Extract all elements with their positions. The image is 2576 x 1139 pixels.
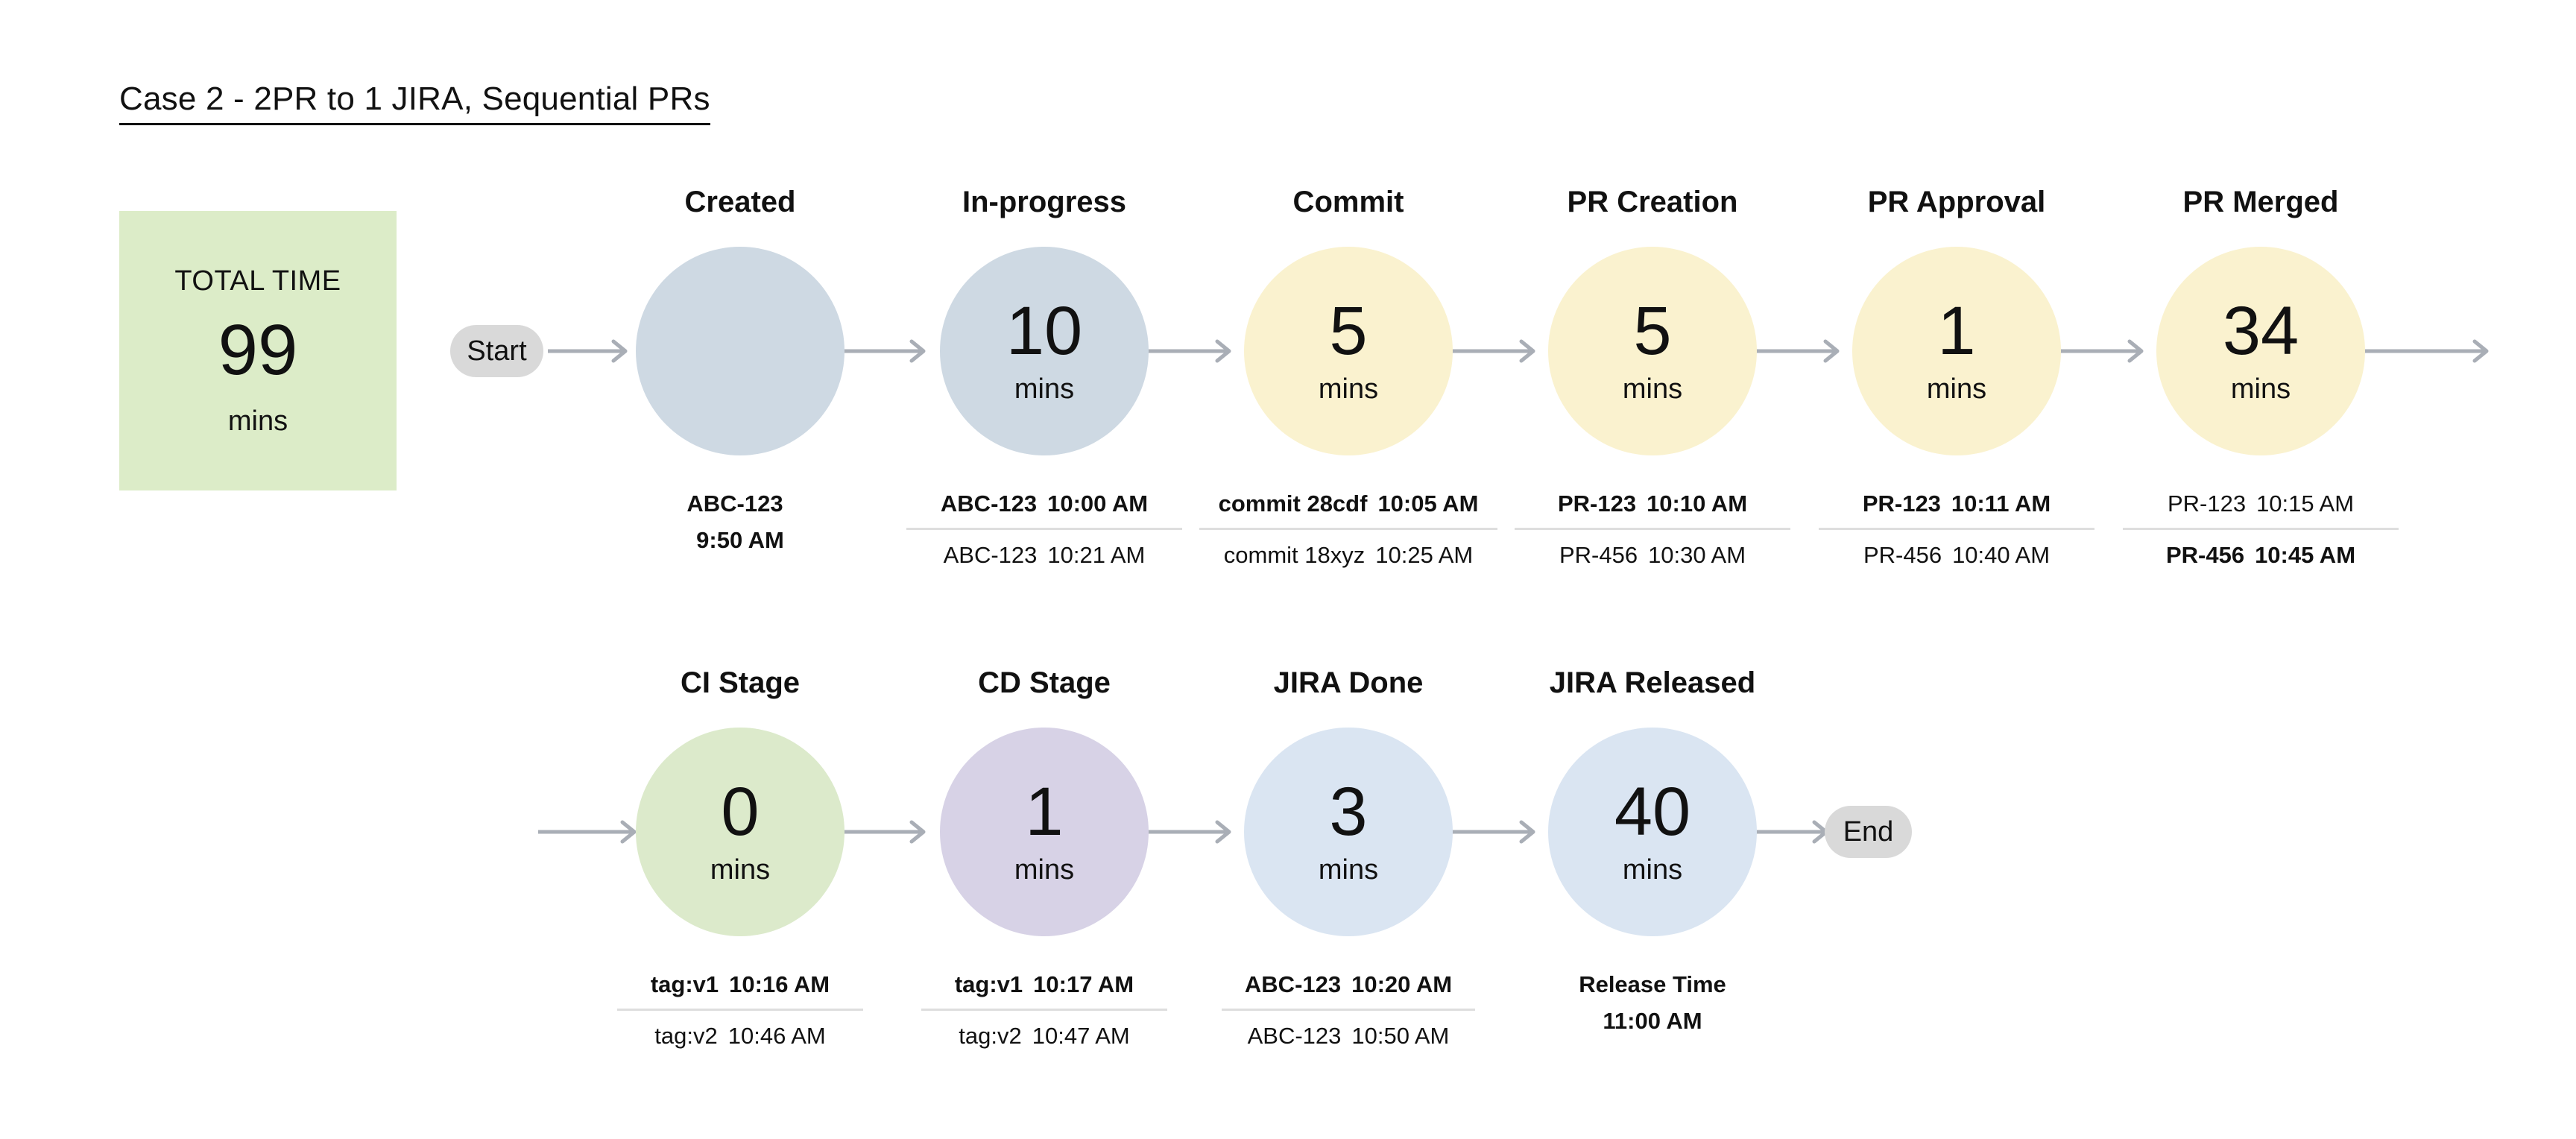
arrow-prmerged-wrap-out	[2364, 338, 2513, 365]
event-key: commit 18xyz	[1224, 542, 1365, 568]
event-key: PR-123	[1863, 490, 1941, 517]
event-key: PR-456	[1559, 542, 1638, 568]
stage-events-pr-approval: PR-12310:11 AM PR-45610:40 AM	[1819, 492, 2094, 567]
page-title: Case 2 - 2PR to 1 JIRA, Sequential PRs	[119, 81, 710, 125]
total-time-unit: mins	[228, 407, 288, 435]
event-key: Release Time	[1579, 971, 1726, 997]
stage-events-pr-merged: PR-12310:15 AM PR-45610:45 AM	[2123, 492, 2399, 567]
stage-events-in-progress: ABC-12310:00 AM ABC-12310:21 AM	[906, 492, 1182, 567]
arrow-jira-done-to-jira-released	[1452, 818, 1545, 845]
stage-unit-in-progress: mins	[1014, 375, 1074, 403]
event-row: 9:50 AM	[617, 515, 863, 552]
event-time: 10:45 AM	[2255, 542, 2355, 568]
stage-circle-commit[interactable]: 5 mins	[1244, 247, 1453, 455]
start-node[interactable]: Start	[450, 325, 543, 377]
event-key: PR-123	[1558, 490, 1636, 517]
event-time: 10:46 AM	[728, 1023, 826, 1049]
stage-header-cd-stage: CD Stage	[978, 666, 1111, 700]
total-time-card: TOTAL TIME 99 mins	[119, 211, 397, 490]
stage-header-commit: Commit	[1293, 186, 1404, 219]
stage-unit-pr-approval: mins	[1927, 375, 1986, 403]
event-row: PR-45610:40 AM	[1819, 530, 2094, 567]
stage-circle-pr-merged[interactable]: 34 mins	[2156, 247, 2365, 455]
event-key: tag:v2	[654, 1023, 717, 1049]
stage-minutes-pr-creation: 5	[1633, 299, 1671, 364]
stage-circle-jira-released[interactable]: 40 mins	[1548, 728, 1757, 936]
event-time: 10:17 AM	[1033, 971, 1134, 997]
stage-unit-ci-stage: mins	[710, 856, 770, 884]
event-time: 10:05 AM	[1377, 490, 1478, 517]
stage-header-pr-approval: PR Approval	[1868, 186, 2046, 219]
event-time: 9:50 AM	[696, 527, 784, 553]
arrow-start-to-created	[548, 338, 637, 365]
stage-header-jira-done: JIRA Done	[1274, 666, 1424, 700]
event-time: 10:21 AM	[1047, 542, 1145, 568]
arrow-inprogress-to-commit	[1148, 338, 1241, 365]
event-row: commit 18xyz10:25 AM	[1199, 530, 1497, 567]
arrow-prapproval-to-prmerged	[2060, 338, 2153, 365]
event-row: 11:00 AM	[1529, 996, 1775, 1032]
stage-circle-cd-stage[interactable]: 1 mins	[940, 728, 1149, 936]
stage-unit-jira-done: mins	[1319, 856, 1378, 884]
event-key: tag:v2	[959, 1023, 1021, 1049]
end-node[interactable]: End	[1825, 806, 1912, 858]
event-key: ABC-123	[1245, 971, 1341, 997]
stage-header-ci-stage: CI Stage	[681, 666, 800, 700]
stage-minutes-in-progress: 10	[1006, 299, 1082, 364]
stage-header-jira-released: JIRA Released	[1550, 666, 1755, 700]
stage-minutes-pr-merged: 34	[2223, 299, 2299, 364]
stage-events-cd-stage: tag:v110:17 AM tag:v210:47 AM	[921, 973, 1167, 1047]
event-row: ABC-12310:20 AM	[1222, 973, 1475, 1009]
event-row: tag:v110:17 AM	[921, 973, 1167, 1009]
event-key: PR-123	[2168, 490, 2246, 517]
event-time: 10:47 AM	[1032, 1023, 1130, 1049]
event-row: PR-12310:11 AM	[1819, 492, 2094, 528]
event-time: 10:30 AM	[1648, 542, 1746, 568]
stage-events-commit: commit 28cdf10:05 AM commit 18xyz10:25 A…	[1199, 492, 1497, 567]
event-key: ABC-123	[686, 490, 783, 517]
stage-header-created: Created	[685, 186, 796, 219]
arrow-cd-to-jira-done	[1148, 818, 1241, 845]
stage-events-created: ABC-123 9:50 AM	[617, 492, 863, 552]
event-time: 10:40 AM	[1952, 542, 2050, 568]
event-row: commit 28cdf10:05 AM	[1199, 492, 1497, 528]
arrow-wrap-in-to-ci	[538, 818, 646, 845]
stage-circle-pr-approval[interactable]: 1 mins	[1852, 247, 2061, 455]
arrow-created-to-inprogress	[842, 338, 935, 365]
event-key: PR-456	[2166, 542, 2244, 568]
event-key: tag:v1	[955, 971, 1023, 997]
arrow-commit-to-prcreation	[1452, 338, 1545, 365]
event-row: ABC-12310:00 AM	[906, 492, 1182, 528]
stage-unit-jira-released: mins	[1623, 856, 1682, 884]
event-row: PR-45610:45 AM	[2123, 530, 2399, 567]
stage-header-pr-merged: PR Merged	[2183, 186, 2339, 219]
stage-circle-ci-stage[interactable]: 0 mins	[636, 728, 845, 936]
stage-unit-pr-creation: mins	[1623, 375, 1682, 403]
stage-unit-cd-stage: mins	[1014, 856, 1074, 884]
total-time-label: TOTAL TIME	[174, 267, 341, 295]
event-time: 10:10 AM	[1647, 490, 1747, 517]
stage-circle-created[interactable]	[636, 247, 845, 455]
stage-unit-commit: mins	[1319, 375, 1378, 403]
event-row: Release Time	[1529, 973, 1775, 996]
event-time: 10:15 AM	[2256, 490, 2354, 517]
event-row: ABC-12310:50 AM	[1222, 1011, 1475, 1047]
event-row: ABC-12310:21 AM	[906, 530, 1182, 567]
diagram-canvas: Case 2 - 2PR to 1 JIRA, Sequential PRs T…	[0, 0, 2576, 1139]
event-time: 10:20 AM	[1351, 971, 1452, 997]
event-row: tag:v110:16 AM	[617, 973, 863, 1009]
event-key: commit 28cdf	[1219, 490, 1368, 517]
event-key: ABC-123	[1248, 1023, 1342, 1049]
event-time: 10:25 AM	[1375, 542, 1473, 568]
stage-minutes-jira-done: 3	[1329, 780, 1367, 845]
stage-minutes-cd-stage: 1	[1025, 780, 1063, 845]
stage-minutes-commit: 5	[1329, 299, 1367, 364]
stage-header-in-progress: In-progress	[962, 186, 1126, 219]
event-time: 10:16 AM	[729, 971, 830, 997]
arrow-ci-to-cd	[842, 818, 935, 845]
event-row: ABC-123	[617, 492, 863, 515]
event-key: PR-456	[1863, 542, 1942, 568]
event-time: 11:00 AM	[1603, 1008, 1702, 1034]
stage-circle-pr-creation[interactable]: 5 mins	[1548, 247, 1757, 455]
stage-events-jira-done: ABC-12310:20 AM ABC-12310:50 AM	[1222, 973, 1475, 1047]
event-key: ABC-123	[941, 490, 1037, 517]
stage-events-pr-creation: PR-12310:10 AM PR-45610:30 AM	[1515, 492, 1790, 567]
stage-header-pr-creation: PR Creation	[1568, 186, 1738, 219]
event-key: ABC-123	[944, 542, 1038, 568]
event-time: 10:00 AM	[1047, 490, 1148, 517]
stage-unit-pr-merged: mins	[2231, 375, 2291, 403]
arrow-prcreation-to-prapproval	[1756, 338, 1849, 365]
event-row: tag:v210:47 AM	[921, 1011, 1167, 1047]
stage-minutes-jira-released: 40	[1614, 780, 1690, 845]
stage-circle-in-progress[interactable]: 10 mins	[940, 247, 1149, 455]
event-key: tag:v1	[651, 971, 719, 997]
event-time: 10:50 AM	[1351, 1023, 1449, 1049]
stage-minutes-ci-stage: 0	[721, 780, 759, 845]
stage-circle-jira-done[interactable]: 3 mins	[1244, 728, 1453, 936]
event-time: 10:11 AM	[1951, 490, 2051, 517]
event-row: tag:v210:46 AM	[617, 1011, 863, 1047]
stage-events-jira-released: Release Time 11:00 AM	[1529, 973, 1775, 1032]
event-row: PR-45610:30 AM	[1515, 530, 1790, 567]
event-row: PR-12310:15 AM	[2123, 492, 2399, 528]
stage-events-ci-stage: tag:v110:16 AM tag:v210:46 AM	[617, 973, 863, 1047]
stage-minutes-pr-approval: 1	[1937, 299, 1975, 364]
total-time-value: 99	[218, 315, 298, 386]
event-row: PR-12310:10 AM	[1515, 492, 1790, 528]
